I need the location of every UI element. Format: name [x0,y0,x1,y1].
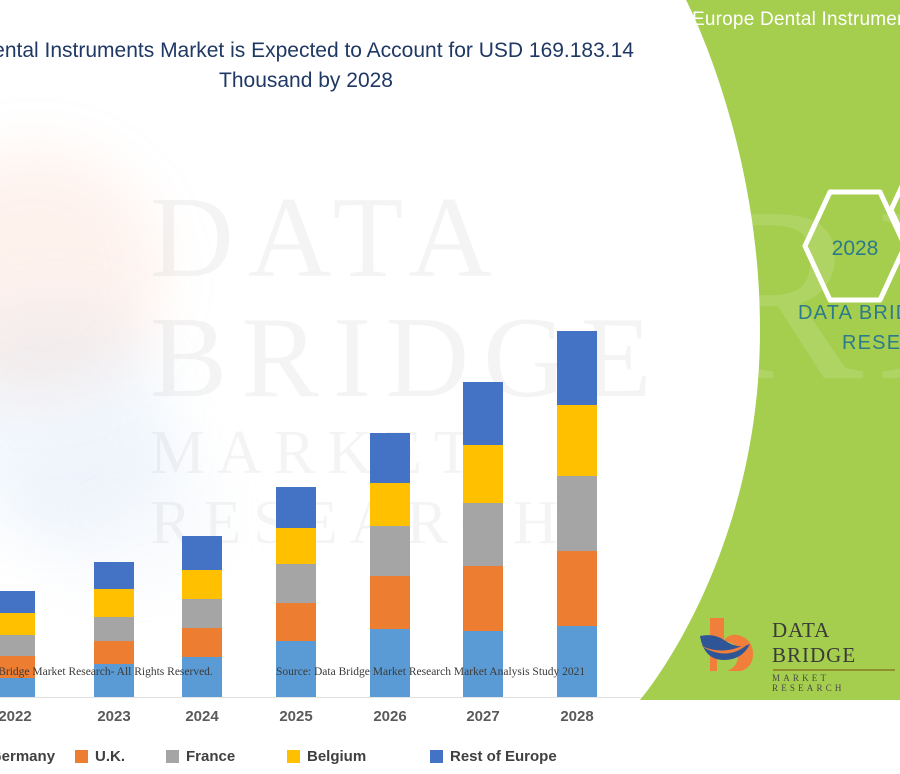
chart-panel: Dental Instruments Market is Expected to… [0,0,660,700]
legend-item-germany[interactable]: Germany [0,748,55,765]
bar-segment-france-2027[interactable] [463,503,503,566]
bar-segment-u-k--2026[interactable] [370,576,410,629]
legend-item-belgium[interactable]: Belgium [287,748,366,765]
hexagon-2028-label: 2028 [800,186,900,311]
bar-segment-france-2022[interactable] [0,635,35,656]
bar-segment-belgium-2022[interactable] [0,613,35,635]
x-axis-label-2022: 2022 [0,708,50,725]
panel-brand: DATA BRIDGE RESEARCH [798,298,900,358]
bar-segment-france-2024[interactable] [182,599,222,628]
bar-segment-france-2023[interactable] [94,617,134,641]
hexagon-2021: 2021 [886,150,900,275]
axis-baseline [0,697,648,698]
bar-segment-u-k--2023[interactable] [94,641,134,664]
x-axis-label-2028: 2028 [542,708,612,725]
bar-segment-belgium-2026[interactable] [370,483,410,526]
bar-segment-u-k--2027[interactable] [463,566,503,631]
legend-label: Belgium [307,748,366,765]
bar-segment-france-2028[interactable] [557,476,597,551]
logo-subtitle: MARKET RESEARCH [772,673,900,693]
bar-segment-rest-of-europe-2023[interactable] [94,562,134,589]
x-axis-label-2027: 2027 [448,708,518,725]
footer-source: Source: Data Bridge Market Research Mark… [276,666,585,678]
legend-item-u-k-[interactable]: U.K. [75,748,125,765]
x-axis-labels: 2022202320242025202620272028 [0,708,648,734]
footer-copyright: © Data Bridge Market Research- All Right… [0,666,213,678]
x-axis-label-2026: 2026 [355,708,425,725]
legend-label: Rest of Europe [450,748,557,765]
chart-legend: GermanyU.K.FranceBelgiumRest of Europe [0,748,648,774]
legend-swatch [430,750,443,763]
bar-segment-u-k--2025[interactable] [276,603,316,641]
bar-segment-belgium-2023[interactable] [94,589,134,617]
x-axis-label-2025: 2025 [261,708,331,725]
bar-segment-rest-of-europe-2026[interactable] [370,433,410,483]
bar-segment-rest-of-europe-2027[interactable] [463,382,503,445]
logo-divider [773,669,895,671]
x-axis-label-2024: 2024 [167,708,237,725]
hexagon-2028: 2028 [800,186,900,311]
legend-swatch [166,750,179,763]
panel-title: Europe Dental Instruments Market [692,9,900,31]
bar-segment-france-2026[interactable] [370,526,410,576]
legend-label: Germany [0,748,55,765]
bar-segment-rest-of-europe-2025[interactable] [276,487,316,528]
hexagon-2021-label: 2021 [886,150,900,275]
bar-segment-france-2025[interactable] [276,564,316,603]
plot-area: 2022202320242025202620272028 GermanyU.K.… [0,150,660,548]
bar-segment-rest-of-europe-2028[interactable] [557,331,597,405]
bar-segment-belgium-2025[interactable] [276,528,316,564]
data-bridge-logo: DATA BRIDGE MARKET RESEARCH [694,614,900,674]
panel-brand-line-1: DATA BRIDGE [798,302,900,324]
logo-name: DATA BRIDGE [772,618,900,668]
bar-segment-belgium-2028[interactable] [557,405,597,476]
bar-column-2027[interactable] [463,382,503,698]
bar-segment-rest-of-europe-2022[interactable] [0,591,35,613]
legend-label: France [186,748,235,765]
bar-segment-rest-of-europe-2024[interactable] [182,536,222,570]
chart-title: Dental Instruments Market is Expected to… [0,36,636,96]
footer: © Data Bridge Market Research- All Right… [0,662,660,692]
logo-text: DATA BRIDGE MARKET RESEARCH [772,618,900,693]
bar-segment-u-k--2024[interactable] [182,628,222,657]
logo-mark-icon [694,614,770,672]
x-axis-label-2023: 2023 [79,708,149,725]
bar-column-2028[interactable] [557,331,597,698]
legend-swatch [287,750,300,763]
legend-item-france[interactable]: France [166,748,235,765]
bar-column-2026[interactable] [370,433,410,698]
bar-segment-belgium-2027[interactable] [463,445,503,503]
bar-segment-u-k--2028[interactable] [557,551,597,626]
panel-brand-line-2: RESEARCH [798,328,900,358]
legend-swatch [75,750,88,763]
right-green-panel: BRID Europe Dental Instruments Market 20… [640,0,900,700]
legend-label: U.K. [95,748,125,765]
bar-segment-belgium-2024[interactable] [182,570,222,599]
legend-item-rest-of-europe[interactable]: Rest of Europe [430,748,557,765]
